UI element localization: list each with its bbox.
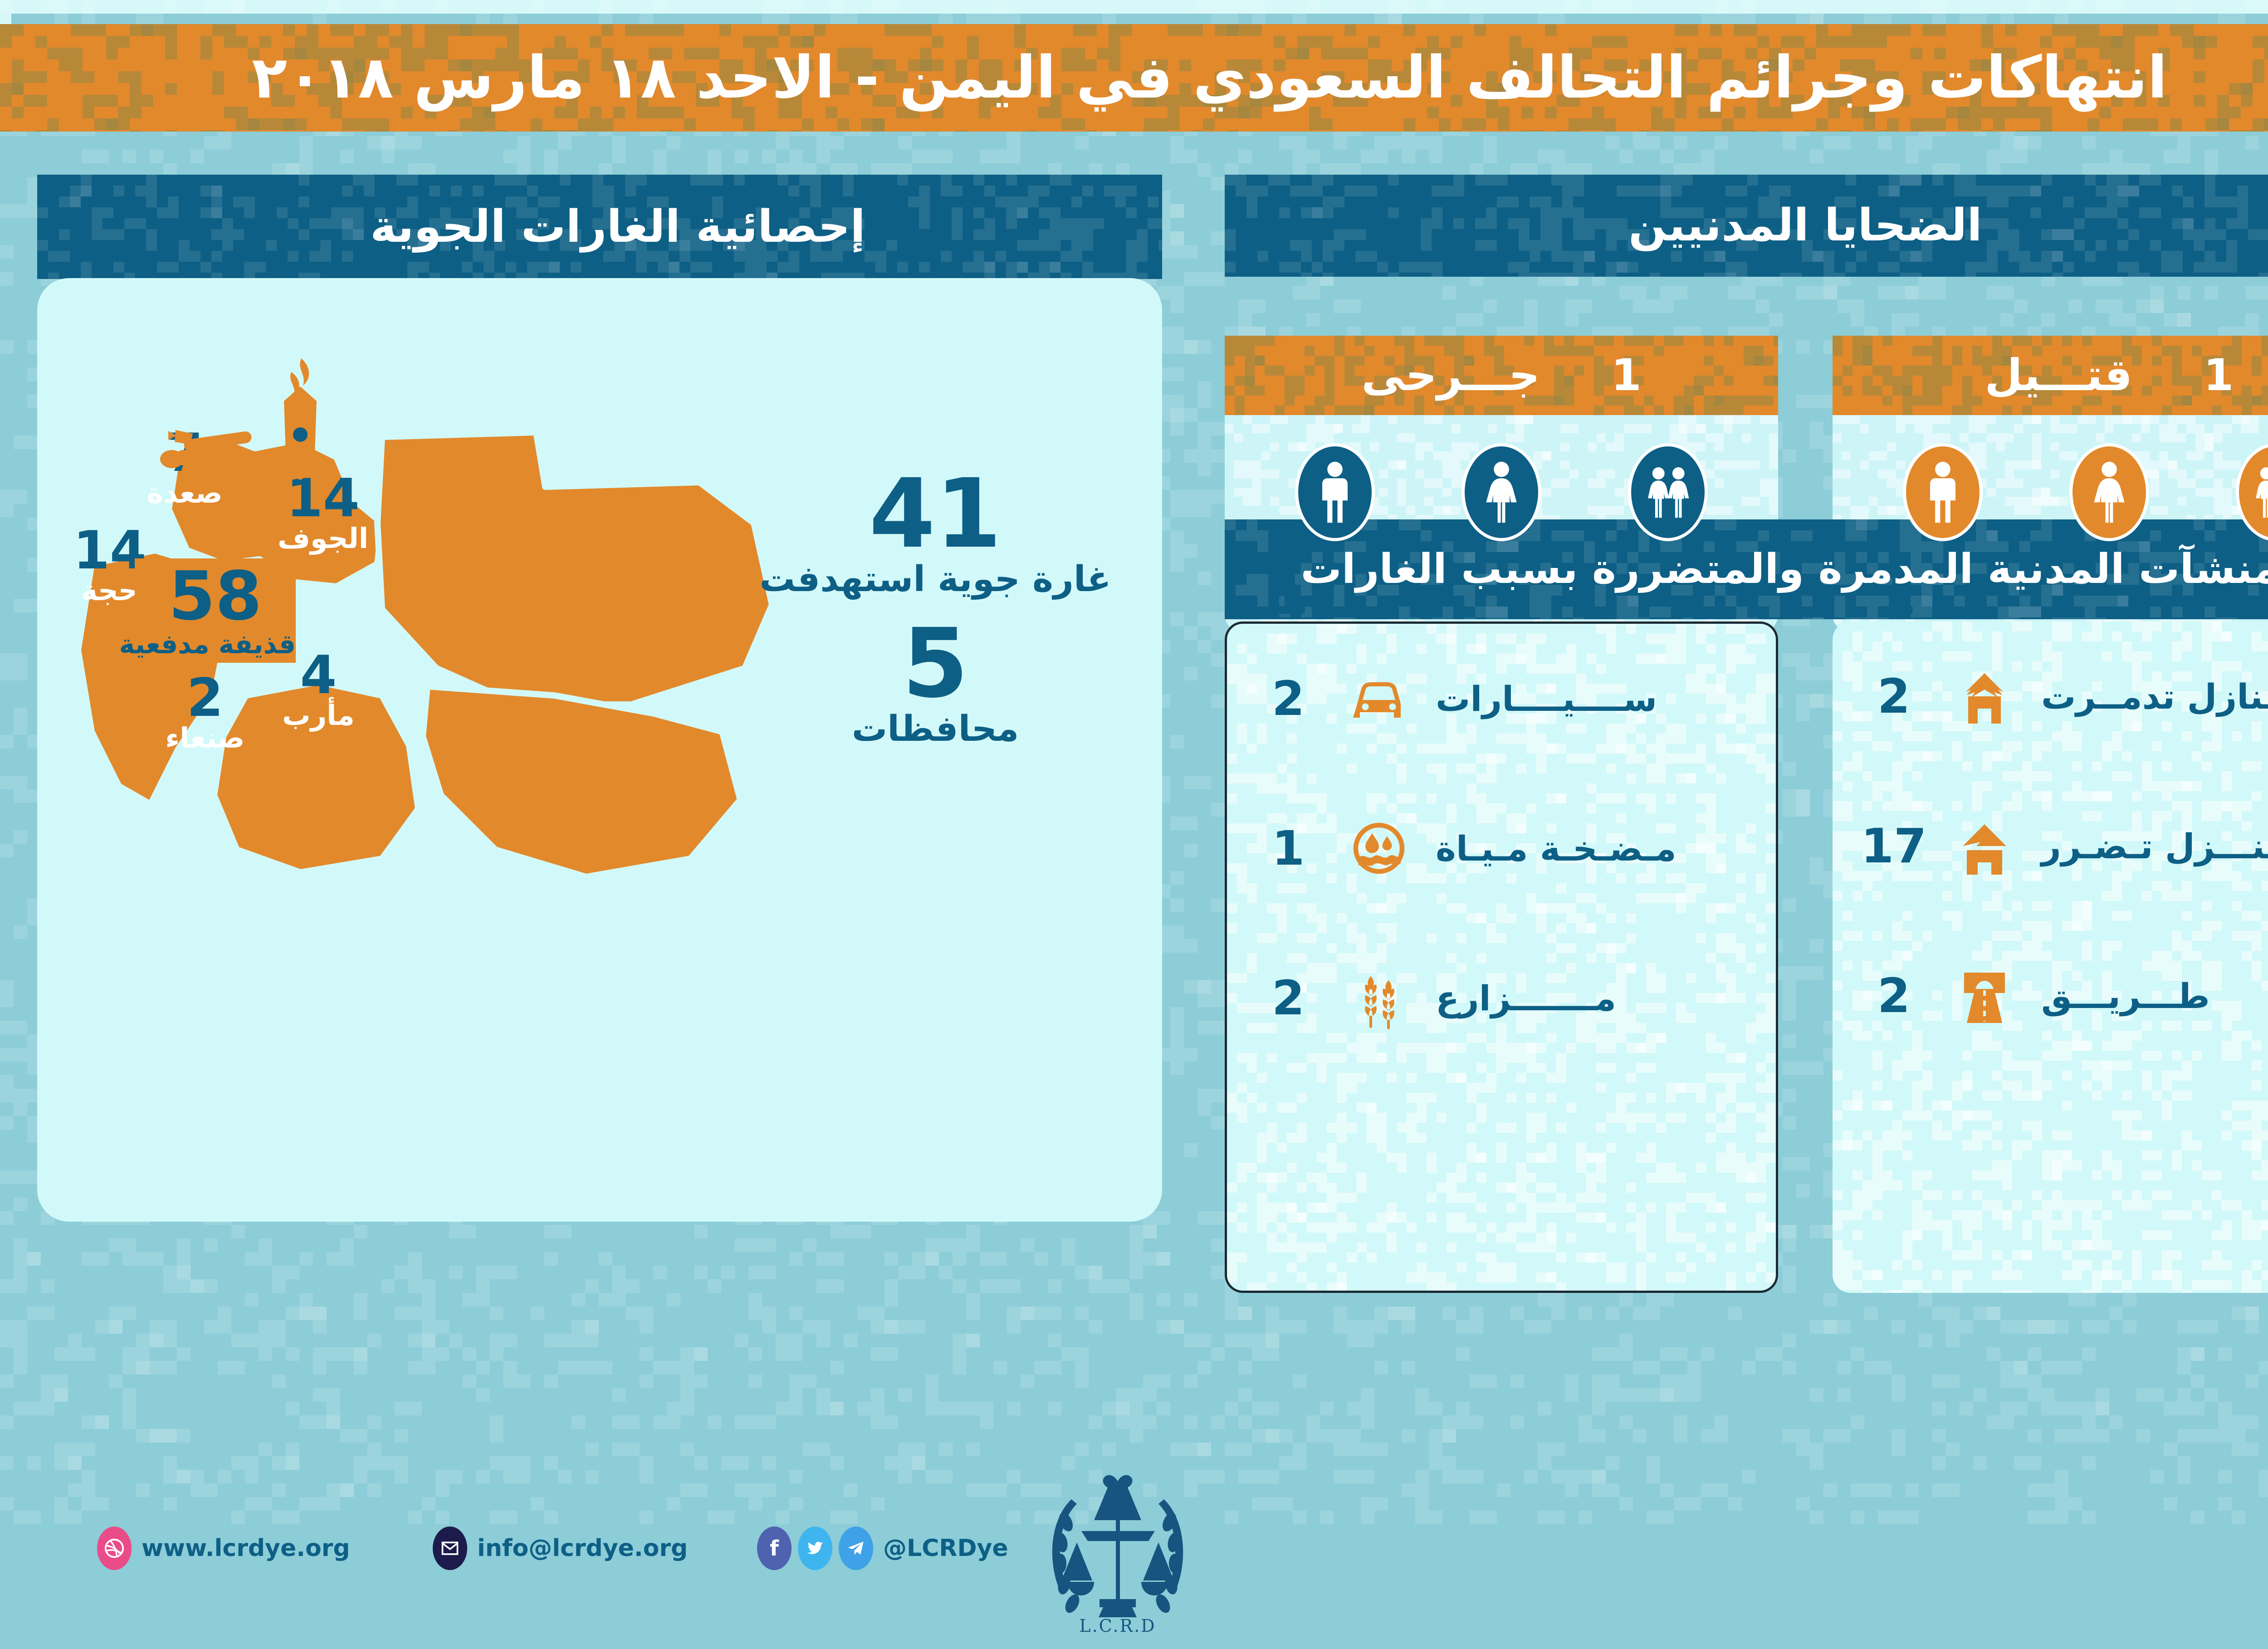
artillery-label: قذيفة مدفعية: [135, 630, 296, 658]
email-text: info@lcrdye.org: [477, 1535, 688, 1562]
injured-header: 1 جـــرحى: [1225, 336, 1778, 415]
facebook-icon[interactable]: f: [757, 1527, 792, 1570]
artillery-count: 58: [135, 558, 296, 630]
footer: www.lcrdye.org info@lcrdye.org f @LCRDye: [74, 1468, 1199, 1649]
farm-wheat-icon: [1340, 959, 1417, 1037]
page-title: انتهاكات وجرائم التحالف السعودي في اليمن…: [0, 24, 2268, 132]
region-aljawf: [377, 432, 772, 705]
water-pump-label: مـضـخـة مـيـاة: [1436, 828, 1749, 869]
damaged-houses-count: 17: [1860, 818, 1928, 874]
killed-count: 1: [2204, 350, 2234, 401]
roads-count: 2: [1860, 968, 1928, 1023]
dribbble-icon: [97, 1527, 132, 1570]
marib-name: مأرب: [255, 701, 382, 730]
car-icon: [1340, 660, 1417, 737]
killed-header-text: 1 قتـــيل: [1833, 336, 2268, 415]
facilities-right-column: 2 مـــنازل تدمــرت 17 مـــنـــزل تـضـرر …: [1833, 621, 2268, 1293]
cars-label: ســــيــــارات: [1436, 679, 1749, 719]
farms-count: 2: [1254, 970, 1322, 1026]
website-item[interactable]: www.lcrdye.org: [97, 1527, 350, 1570]
injured-label: جـــرحى: [1361, 350, 1540, 401]
facilities-title: المنشآت المدنية المدمرة والمتضررة بسبب ا…: [1225, 519, 2268, 619]
facility-row: 2 ســــيــــارات: [1227, 624, 1776, 773]
governorates-count: 5: [736, 618, 1135, 709]
governorates-stat: 5 محافظات: [736, 618, 1135, 749]
road-icon: [1946, 957, 2023, 1034]
facility-row: 2: [1227, 923, 1776, 1073]
damaged-houses-label: مـــنـــزل تـضـرر: [2041, 826, 2268, 866]
social-handle-text: @LCRDye: [883, 1535, 1008, 1562]
sanaa-count: 2: [142, 673, 269, 724]
injured-count: 1: [1611, 350, 1642, 401]
cars-count: 2: [1254, 671, 1322, 726]
facilities-left-column: 2 ســــيــــارات 1: [1225, 621, 1778, 1293]
victims-title: الضحايا المدنيين: [1225, 175, 2268, 277]
telegram-icon[interactable]: [839, 1527, 873, 1570]
raids-stat: 41 غارة جوية استهدفت: [736, 469, 1135, 599]
cannon-icon: [148, 422, 262, 490]
killed-label: قتـــيل: [1985, 350, 2132, 401]
aljawf-name: الجوف: [228, 524, 418, 553]
air-raids-panel: إحصائية الغارات الجوية: [37, 175, 1162, 1481]
artillery-badge: 58 قذيفة مدفعية: [135, 558, 296, 663]
water-pump-icon: [1340, 810, 1417, 887]
destroyed-houses-label: مـــنازل تدمــرت: [2041, 676, 2268, 717]
governorates-label: محافظات: [736, 709, 1135, 749]
water-pump-count: 1: [1254, 821, 1322, 876]
lcrd-logo: L.C.R.D: [1027, 1463, 1208, 1644]
farms-label: مـــــــزارع: [1436, 978, 1749, 1018]
facility-row: 17 مـــنـــزل تـضـرر: [1833, 771, 2268, 921]
victims-facilities-panel: الضحايا المدنيين 1 قتـــيل: [1225, 175, 2268, 1481]
facilities-banner: المنشآت المدنية المدمرة والمتضررة بسبب ا…: [1225, 519, 2268, 619]
injured-header-text: 1 جـــرحى: [1225, 336, 1778, 415]
facility-row: 2 طـــريـــق: [1833, 921, 2268, 1071]
air-raids-title: إحصائية الغارات الجوية: [37, 175, 1162, 279]
facility-row: 2 مـــنازل تدمــرت: [1833, 621, 2268, 771]
map-card: 58 قذيفة مدفعية 7 صعدة 14 الجوف 14 حجة 2…: [37, 278, 1162, 1222]
killed-header: 1 قتـــيل: [1833, 336, 2268, 415]
destroyed-houses-count: 2: [1860, 669, 1928, 724]
roads-label: طـــريـــق: [2041, 976, 2268, 1016]
bomb-flame-icon: [273, 354, 327, 481]
air-raids-banner: إحصائية الغارات الجوية: [37, 175, 1162, 279]
infographic-page: انتهاكات وجرائم التحالف السعودي في اليمن…: [0, 0, 2268, 1512]
twitter-icon[interactable]: [798, 1527, 832, 1570]
social-item[interactable]: f @LCRDye: [757, 1527, 1008, 1570]
sanaa-name: صنعاء: [142, 724, 269, 753]
victims-banner: الضحايا المدنيين: [1225, 175, 2268, 277]
mail-icon: [433, 1527, 467, 1570]
map-label-sanaa: 2 صنعاء: [142, 673, 269, 753]
raids-label: غارة جوية استهدفت: [736, 559, 1135, 599]
destroyed-house-icon: [1946, 658, 2023, 735]
email-item[interactable]: info@lcrdye.org: [433, 1527, 688, 1570]
damaged-house-icon: [1946, 807, 2023, 885]
page-header: انتهاكات وجرائم التحالف السعودي في اليمن…: [0, 24, 2268, 132]
raids-count: 41: [736, 469, 1135, 559]
website-text: www.lcrdye.org: [142, 1535, 350, 1562]
region-marib: [423, 686, 740, 877]
facility-row: 1 مـضـخـة مـيـاة: [1227, 773, 1776, 923]
logo-text: L.C.R.D: [1079, 1616, 1156, 1636]
